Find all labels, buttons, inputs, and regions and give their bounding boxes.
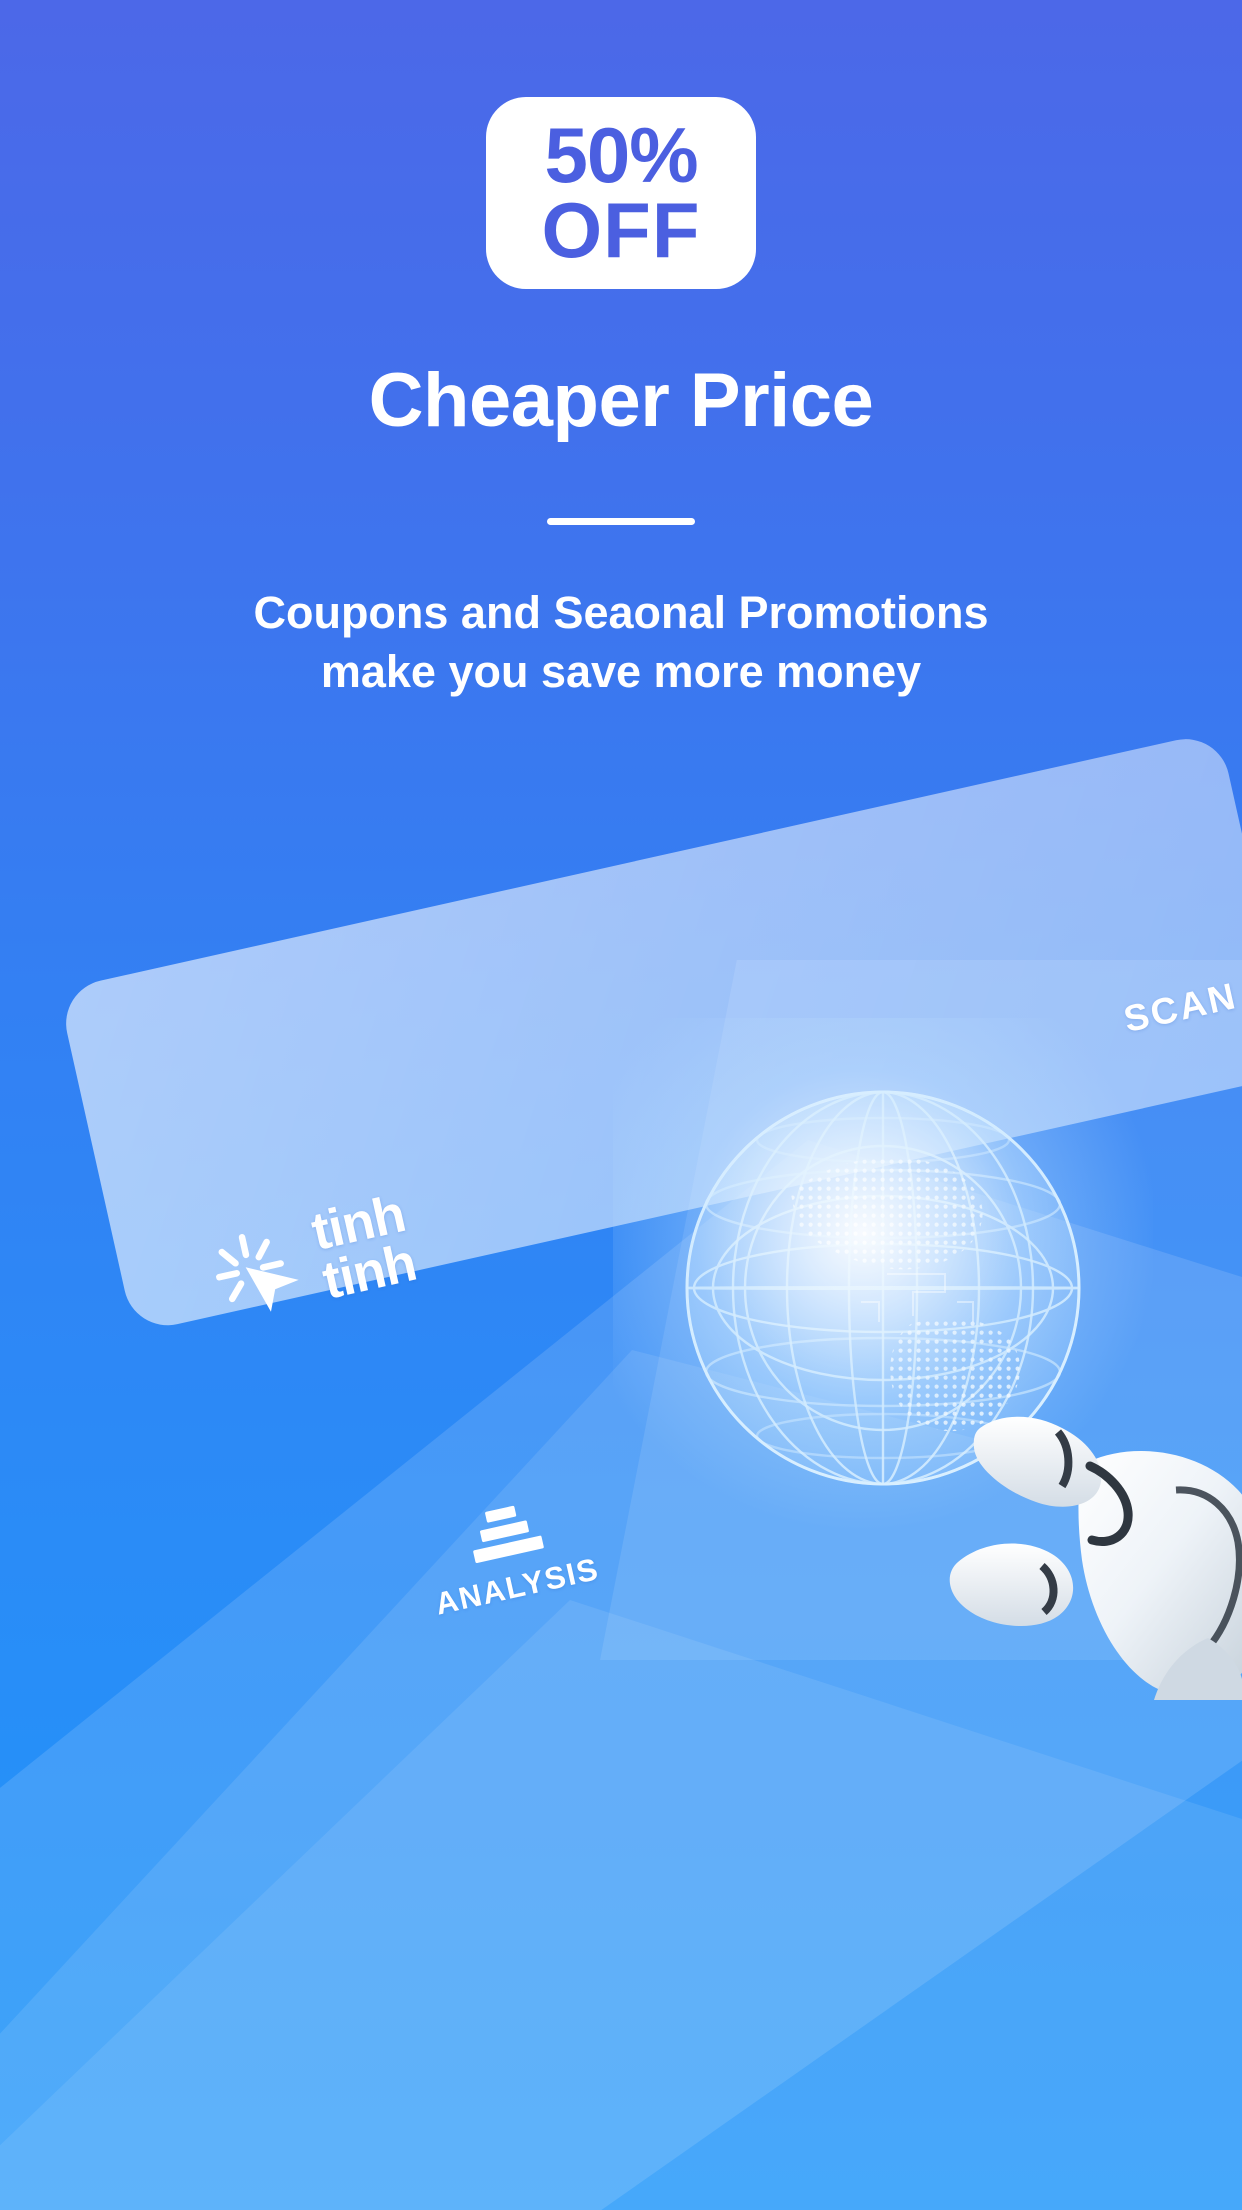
card-label-analysis: ANALYSIS bbox=[418, 1489, 603, 1623]
background-wedge-tertiary bbox=[0, 1600, 1242, 2210]
discount-percent: 50% bbox=[544, 118, 697, 193]
page-subtitle: Coupons and Seaonal Promotions make you … bbox=[253, 583, 988, 702]
subtitle-line-2: make you save more money bbox=[253, 642, 988, 701]
robot-hand bbox=[940, 1370, 1242, 1700]
subtitle-line-1: Coupons and Seaonal Promotions bbox=[253, 583, 988, 642]
background-wedge-secondary bbox=[0, 1350, 1242, 2210]
discount-badge: 50% OFF bbox=[486, 97, 756, 289]
page-title: Cheaper Price bbox=[369, 357, 874, 444]
hero-content: 50% OFF Cheaper Price Coupons and Seaona… bbox=[0, 0, 1242, 702]
robot-hand-icon bbox=[940, 1370, 1242, 1700]
cursor-click-icon bbox=[207, 1220, 310, 1323]
discount-off-label: OFF bbox=[542, 193, 701, 268]
promotion-screen: tinh tinh ANALYSIS SCAN 50% OFF Cheaper … bbox=[0, 0, 1242, 2210]
title-divider bbox=[547, 518, 695, 525]
bar-chart-icon bbox=[463, 1499, 548, 1572]
